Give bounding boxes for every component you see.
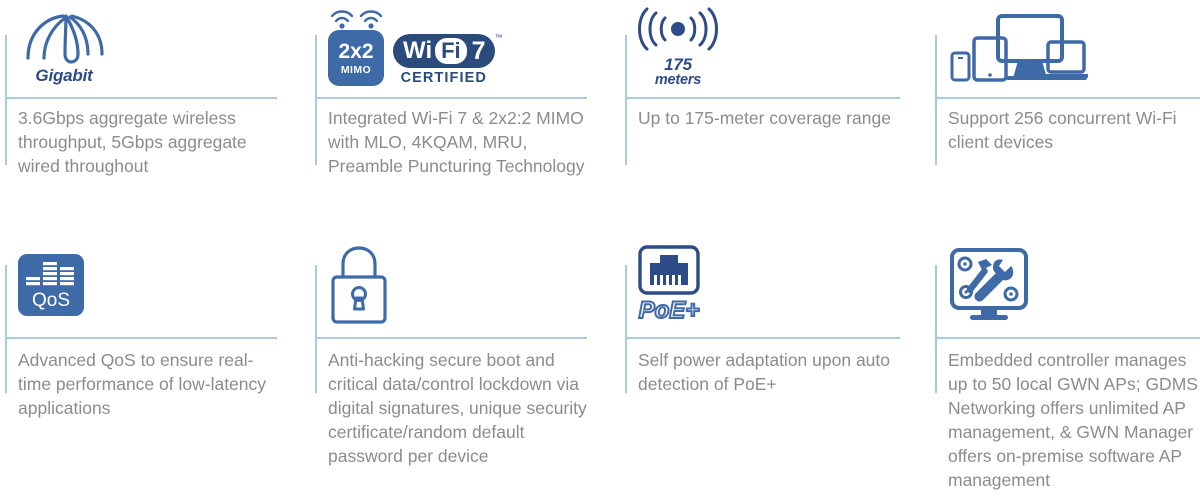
wifi-wave-icon xyxy=(359,9,383,29)
icon-area: Gigabit xyxy=(18,0,110,95)
horizontal-divider xyxy=(5,337,277,339)
horizontal-divider xyxy=(5,97,277,99)
feature-text: 3.6Gbps aggregate wireless throughput, 5… xyxy=(18,106,280,178)
coverage-range-icon: 175 meters xyxy=(638,7,718,88)
feature-card-poe: PoE+ Self power adaptation upon auto det… xyxy=(620,230,930,501)
coverage-distance-unit: meters xyxy=(655,73,701,88)
qos-label: QoS xyxy=(32,291,70,311)
embedded-controller-icon xyxy=(948,246,1030,324)
mimo-chip: 2x2 MIMO xyxy=(328,30,384,86)
vertical-divider xyxy=(625,35,627,165)
poe-plus-icon: PoE+ xyxy=(638,245,700,325)
vertical-divider xyxy=(5,35,7,165)
wifi-wave-icon xyxy=(330,9,354,29)
feature-text: Up to 175-meter coverage range xyxy=(638,106,900,130)
signal-radiation-glyph xyxy=(638,7,718,57)
equalizer-glyph xyxy=(24,261,78,289)
poe-plus-label: PoE+ xyxy=(639,297,700,325)
feature-grid: Gigabit 3.6Gbps aggregate wireless throu… xyxy=(0,0,1200,501)
feature-text: Integrated Wi-Fi 7 & 2x2:2 MIMO with MLO… xyxy=(328,106,590,178)
vertical-divider xyxy=(315,35,317,165)
mimo-sub-label: MIMO xyxy=(341,64,371,76)
feature-row-bottom: QoS Advanced QoS to ensure real-time per… xyxy=(0,230,1200,501)
icon-area xyxy=(328,232,390,337)
horizontal-divider xyxy=(315,97,587,99)
feature-card-gigabit: Gigabit 3.6Gbps aggregate wireless throu… xyxy=(0,0,310,230)
multi-devices-icon xyxy=(948,12,1088,84)
vertical-divider xyxy=(315,265,317,393)
padlock-icon xyxy=(328,244,390,326)
antenna-waves xyxy=(330,9,383,29)
horizontal-divider xyxy=(315,337,587,339)
horizontal-divider xyxy=(625,337,900,339)
icon-area: QoS xyxy=(18,232,84,337)
icon-area: 2x2 MIMO Wi Fi 7 ™ CERTIFIED xyxy=(328,0,495,95)
gigabit-icon: Gigabit xyxy=(18,10,110,86)
vertical-divider xyxy=(625,265,627,393)
gigabit-label: Gigabit xyxy=(35,66,92,86)
feature-card-devices: Support 256 concurrent Wi-Fi client devi… xyxy=(930,0,1200,230)
vertical-divider xyxy=(5,265,7,393)
vertical-divider xyxy=(935,35,937,165)
icon-area: PoE+ xyxy=(638,232,700,337)
horizontal-divider xyxy=(935,337,1200,339)
certified-label: CERTIFIED xyxy=(401,70,487,86)
icon-area xyxy=(948,232,1030,337)
icon-area: 175 meters xyxy=(638,0,718,95)
rj45-connector-glyph xyxy=(638,245,700,295)
coverage-distance-value: 175 xyxy=(664,57,692,73)
feature-text: Advanced QoS to ensure real-time perform… xyxy=(18,348,280,420)
feature-text: Support 256 concurrent Wi-Fi client devi… xyxy=(948,106,1200,154)
feature-text: Self power adaptation upon auto detectio… xyxy=(638,348,900,396)
wifi7-certified-badge: Wi Fi 7 ™ CERTIFIED xyxy=(393,34,495,86)
horizontal-divider xyxy=(935,97,1200,99)
qos-icon: QoS xyxy=(18,254,84,316)
trademark-mark: ™ xyxy=(495,33,503,42)
horizontal-divider xyxy=(625,97,900,99)
wifi-wi-text: Wi xyxy=(403,39,432,63)
icon-area xyxy=(948,0,1088,95)
feature-card-qos: QoS Advanced QoS to ensure real-time per… xyxy=(0,230,310,501)
wifi7-pill: Wi Fi 7 ™ xyxy=(393,34,495,68)
gigabit-glyph xyxy=(18,10,110,65)
mimo-badge: 2x2 MIMO xyxy=(328,9,384,86)
mimo-value: 2x2 xyxy=(338,41,373,62)
feature-text: Anti-hacking secure boot and critical da… xyxy=(328,348,590,468)
wifi-fi-text: Fi xyxy=(435,38,467,64)
feature-card-coverage: 175 meters Up to 175-meter coverage rang… xyxy=(620,0,930,230)
feature-card-wifi7: 2x2 MIMO Wi Fi 7 ™ CERTIFIED xyxy=(310,0,620,230)
wifi-version-number: 7 xyxy=(472,39,486,64)
vertical-divider xyxy=(935,265,937,393)
feature-card-security: Anti-hacking secure boot and critical da… xyxy=(310,230,620,501)
feature-text: Embedded controller manages up to 50 loc… xyxy=(948,348,1200,492)
feature-row-top: Gigabit 3.6Gbps aggregate wireless throu… xyxy=(0,0,1200,230)
wifi7-mimo-icon: 2x2 MIMO Wi Fi 7 ™ CERTIFIED xyxy=(328,9,495,86)
feature-card-controller: Embedded controller manages up to 50 loc… xyxy=(930,230,1200,501)
